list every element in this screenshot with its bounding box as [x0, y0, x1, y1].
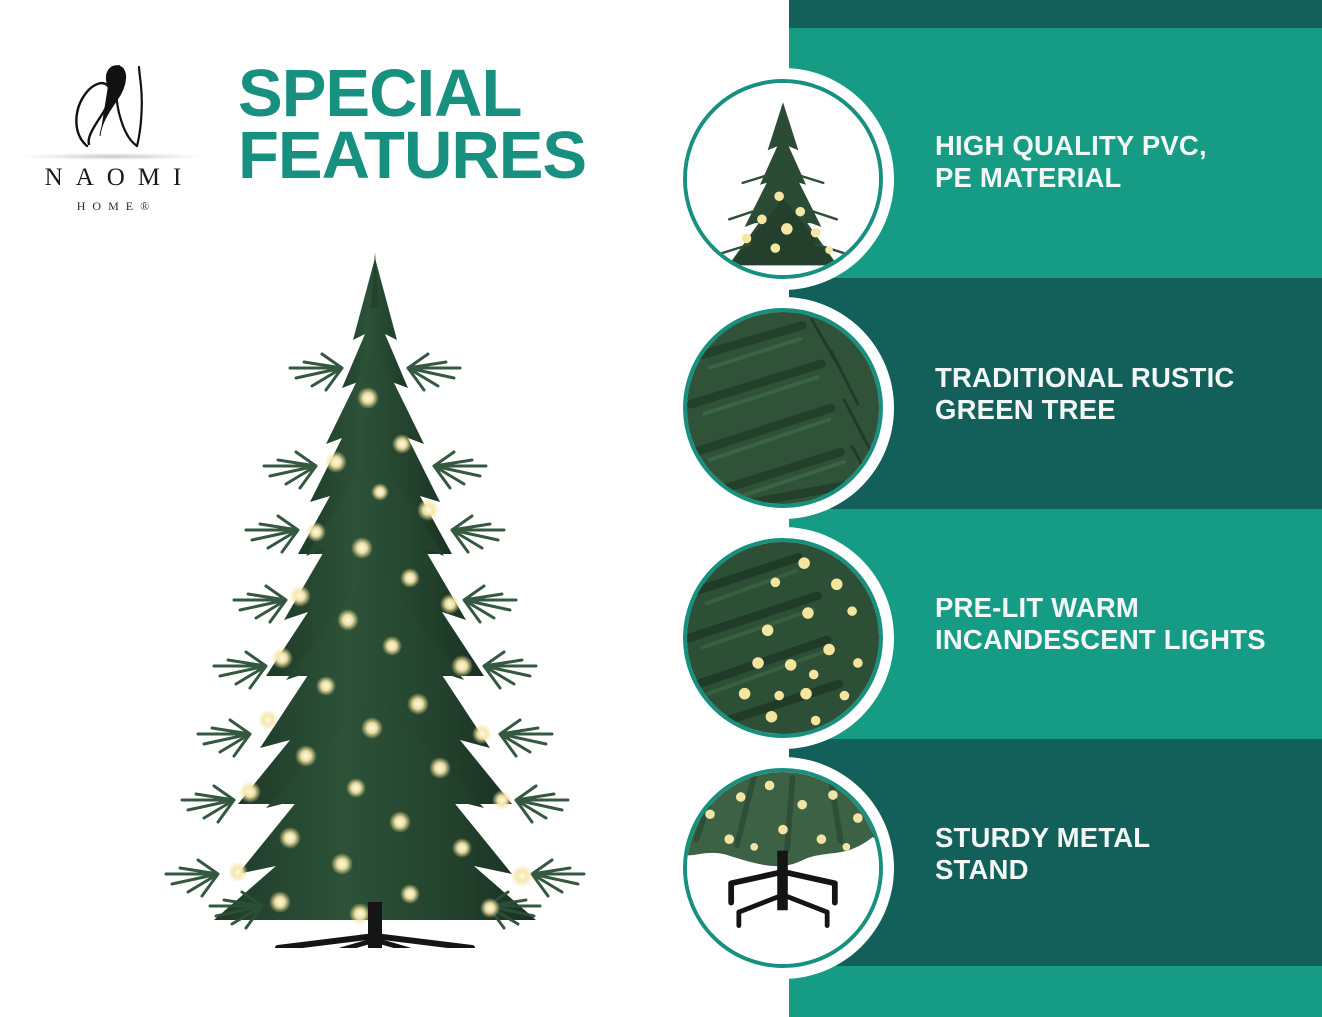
logo-brand-tagline: HOME® [8, 199, 218, 214]
logo-shadow [20, 153, 206, 160]
band-top-dark [789, 0, 1322, 28]
feature-label-1-line1: HIGH QUALITY PVC, [935, 130, 1315, 162]
feature-thumbnail-1-ring [683, 79, 883, 279]
brand-logo: NAOMI HOME® [8, 60, 218, 214]
logo-brand-name: NAOMI [8, 164, 218, 192]
feature-label-4-line2: STAND [935, 854, 1315, 886]
infographic-page: NAOMI HOME® SPECIAL FEATURES [0, 0, 1322, 1017]
page-title-line2: FEATURES [238, 125, 668, 187]
main-product-image [110, 248, 640, 948]
feature-label-4-line1: STURDY METAL [935, 822, 1315, 854]
page-title-line1: SPECIAL [238, 63, 668, 125]
feature-thumbnail-3-ring [683, 538, 883, 738]
feature-thumbnail-2 [672, 297, 894, 519]
feature-label-1: HIGH QUALITY PVC, PE MATERIAL [935, 130, 1315, 194]
feature-label-3-line1: PRE-LIT WARM [935, 592, 1315, 624]
feature-label-2-line2: GREEN TREE [935, 394, 1315, 426]
feature-thumbnail-2-ring [683, 308, 883, 508]
logo-monogram-icon [8, 60, 218, 152]
feature-label-2: TRADITIONAL RUSTIC GREEN TREE [935, 362, 1315, 426]
feature-thumbnail-3 [672, 527, 894, 749]
feature-label-2-line1: TRADITIONAL RUSTIC [935, 362, 1315, 394]
feature-thumbnail-4-ring [683, 768, 883, 968]
feature-thumbnail-4 [672, 757, 894, 979]
feature-label-4: STURDY METAL STAND [935, 822, 1315, 886]
page-title: SPECIAL FEATURES [238, 63, 668, 188]
feature-label-3-line2: INCANDESCENT LIGHTS [935, 624, 1315, 656]
feature-label-3: PRE-LIT WARM INCANDESCENT LIGHTS [935, 592, 1315, 656]
feature-thumbnail-1 [672, 68, 894, 290]
feature-label-1-line2: PE MATERIAL [935, 162, 1315, 194]
band-bottom-light [789, 966, 1322, 1017]
